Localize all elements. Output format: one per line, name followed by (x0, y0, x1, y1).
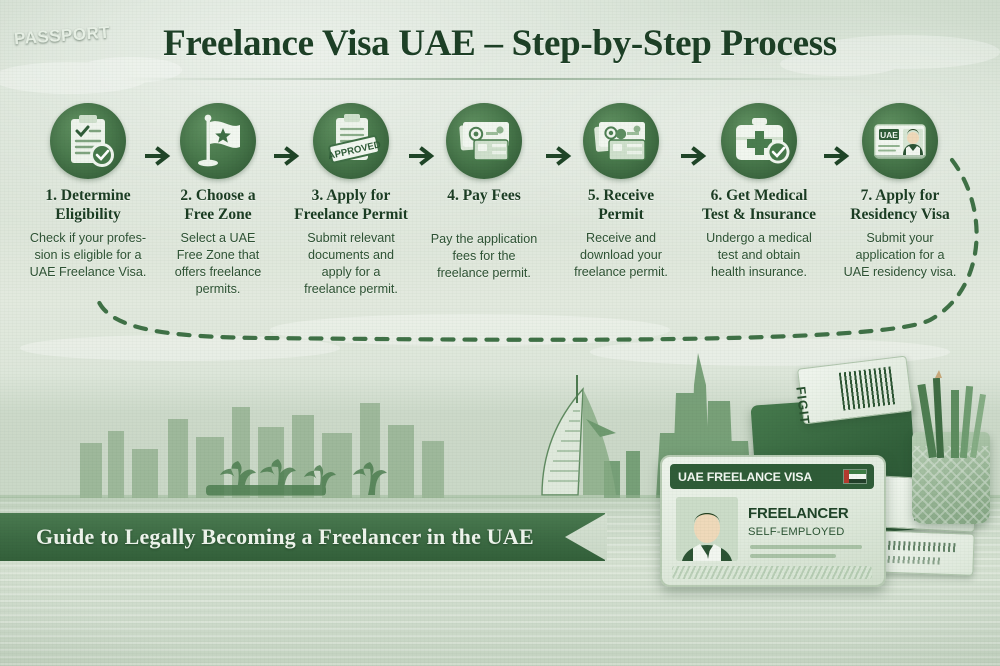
avatar (676, 497, 738, 561)
step-4[interactable]: 4. Pay Fees Pay the applicationfees for … (416, 103, 552, 282)
id-card-icon: UAE (862, 103, 938, 179)
step-title: 4. Pay Fees (416, 187, 552, 206)
card-name: FREELANCER (748, 505, 849, 522)
card-title: UAE FREELANCE VISA (678, 470, 844, 484)
step-title: 3. Apply forFreelance Permit (281, 187, 421, 224)
step-description: Submit relevantdocuments andapply for af… (281, 230, 421, 298)
step-6[interactable]: 6. Get MedicalTest & Insurance Undergo a… (688, 103, 830, 281)
step-title: 5. ReceivePermit (556, 187, 686, 224)
card-header: UAE FREELANCE VISA (670, 464, 874, 489)
step-description: Submit yourapplication for aUAE residenc… (835, 230, 965, 281)
step-title: 1. DetermineEligibility (12, 187, 164, 224)
cash-card-icon (583, 103, 659, 179)
svg-text:UAE: UAE (880, 130, 898, 140)
step-title: 2. Choose aFree Zone (160, 187, 276, 224)
card-security-strip (672, 566, 872, 579)
step-title: 6. Get MedicalTest & Insurance (688, 187, 830, 224)
list-item (871, 530, 974, 576)
infographic-canvas: Freelance Visa UAE – Step-by-Step Proces… (0, 0, 1000, 666)
card-subtitle: SELF-EMPLOYED (748, 526, 844, 538)
step-description: Receive anddownload yourfreelance permit… (556, 230, 686, 281)
clipboard-check-icon (50, 103, 126, 179)
page-title: Freelance Visa UAE – Step-by-Step Proces… (0, 22, 1000, 65)
uae-freelance-visa-card: UAE FREELANCE VISA FREELANCER SELF- (660, 455, 886, 587)
pens-and-pencils (905, 368, 1000, 478)
step-description: Pay the applicationfees for thefreelance… (416, 231, 552, 282)
cash-card-icon (446, 103, 522, 179)
step-description: Undergo a medicaltest and obtainhealth i… (688, 230, 830, 281)
approved-document-icon: APPROVED (313, 103, 389, 179)
uae-flag-icon (844, 470, 866, 483)
step-3[interactable]: APPROVED 3. Apply forFreelance Permit Su… (281, 103, 421, 298)
step-7[interactable]: UAE 7. Apply forResidency Visa Submit yo… (835, 103, 965, 281)
step-description: Select a UAEFree Zone thatoffers freelan… (160, 230, 276, 298)
step-title: 7. Apply forResidency Visa (835, 187, 965, 224)
step-description: Check if your profes-sion is eligible fo… (12, 230, 164, 281)
step-2[interactable]: 2. Choose aFree Zone Select a UAEFree Zo… (160, 103, 276, 298)
title-divider (120, 78, 880, 80)
flag-icon (180, 103, 256, 179)
medical-kit-check-icon (721, 103, 797, 179)
step-1[interactable]: 1. DetermineEligibility Check if your pr… (12, 103, 164, 281)
step-5[interactable]: 5. ReceivePermit Receive anddownload you… (556, 103, 686, 281)
process-steps: 1. DetermineEligibility Check if your pr… (0, 103, 1000, 313)
burj-al-arab (542, 375, 616, 495)
banner-label: Guide to Legally Becoming a Freelancer i… (36, 513, 534, 561)
